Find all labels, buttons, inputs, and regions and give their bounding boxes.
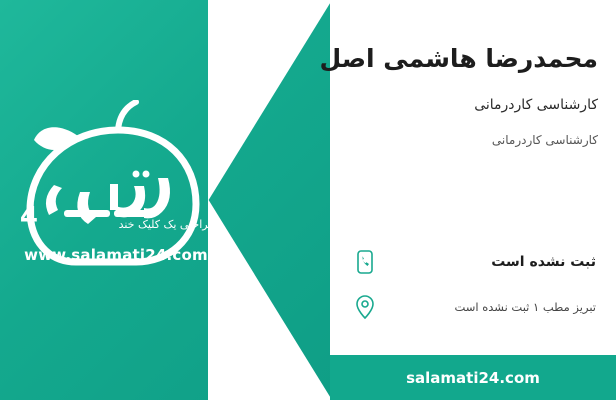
map-pin-icon bbox=[350, 292, 380, 322]
logo-url: www.salamati24.com bbox=[18, 246, 214, 264]
page-title: محمدرضا هاشمی اصل bbox=[348, 44, 598, 73]
card-content: محمدرضا هاشمی اصل کارشناسی کاردرمانی کار… bbox=[330, 0, 616, 400]
logo-slogan: براحتی یک کلیک خند bbox=[110, 218, 220, 231]
address-row[interactable]: تبریز مطب ۱ ثبت نشده است bbox=[350, 292, 602, 322]
specialty-secondary: کارشناسی کاردرمانی bbox=[348, 133, 598, 147]
phone-status: ثبت نشده است bbox=[380, 254, 602, 270]
phone-row[interactable]: ثبت نشده است bbox=[350, 247, 602, 277]
footer-site-label: salamati24.com bbox=[406, 369, 540, 387]
specialty-primary: کارشناسی کاردرمانی bbox=[348, 97, 598, 113]
phone-icon bbox=[350, 247, 380, 277]
footer-bar[interactable]: salamati24.com bbox=[330, 355, 616, 400]
logo-number: 24 bbox=[18, 202, 38, 232]
address-status: تبریز مطب ۱ ثبت نشده است bbox=[380, 300, 602, 314]
business-card: 24 براحتی یک کلیک خند www.salamati24.com… bbox=[0, 0, 616, 400]
